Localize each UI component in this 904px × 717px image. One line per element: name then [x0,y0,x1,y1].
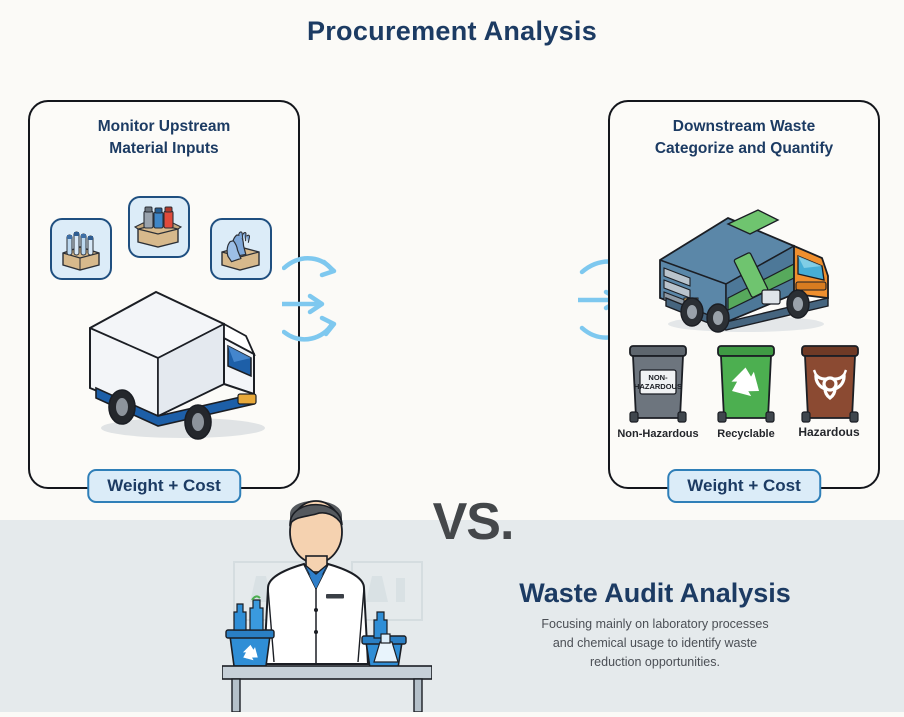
svg-text:NON-: NON- [648,373,668,382]
waste-audit-description-line1: Focusing mainly on laboratory processes [490,615,820,634]
waste-audit-description-line3: reduction opportunities. [490,653,820,672]
bin-label-recyclable: Recyclable [702,428,790,440]
delivery-truck-icon [78,276,278,451]
svg-text:HAZARDOUS: HAZARDOUS [634,382,682,391]
waste-audit-title: Waste Audit Analysis [455,578,855,609]
left-panel-heading-line2: Material Inputs [30,138,298,160]
waste-bin-recyclable [710,336,782,433]
test-tubes-in-box-icon [50,218,112,280]
left-weight-cost-badge: Weight + Cost [87,469,241,503]
left-panel-heading: Monitor Upstream Material Inputs [30,116,298,160]
right-panel-heading-line1: Downstream Waste [610,116,878,138]
waste-audit-description-line2: and chemical usage to identify waste [490,634,820,653]
versus-label: VS. [418,492,528,552]
waste-bin-hazardous [794,336,866,433]
bin-label-non-hazardous: Non-Hazardous [612,428,704,440]
lab-bench-scene [222,492,432,717]
right-weight-cost-badge: Weight + Cost [667,469,821,503]
waste-collection-truck-icon [646,198,846,343]
bin-label-hazardous: Hazardous [786,425,872,439]
waste-bin-non-hazardous: NON- HAZARDOUS [622,336,694,433]
right-panel-heading-line2: Categorize and Quantify [610,138,878,160]
gloves-in-box-icon [210,218,272,280]
right-panel-heading: Downstream Waste Categorize and Quantify [610,116,878,160]
infographic-canvas: Procurement Analysis Monitor Upstream Ma… [0,0,904,712]
flow-arrows-left [282,250,338,350]
waste-audit-description: Focusing mainly on laboratory processes … [490,615,820,672]
page-title: Procurement Analysis [0,16,904,47]
chemical-bottles-in-box-icon [128,196,190,258]
left-panel-heading-line1: Monitor Upstream [30,116,298,138]
